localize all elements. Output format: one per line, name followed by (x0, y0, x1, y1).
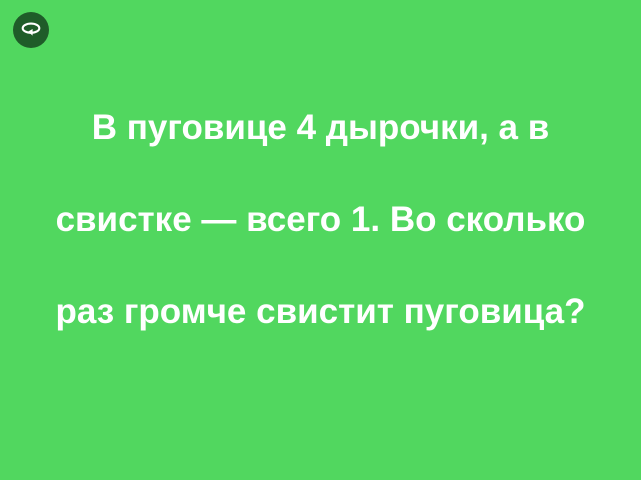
quote-line-1: В пуговице 4 дырочки, а в (31, 105, 611, 151)
quote-line-3: раз громче свистит пуговица? (31, 289, 611, 335)
quote-text-block: В пуговице 4 дырочки, а в свистке — всег… (0, 0, 641, 480)
quote-line-2: свистке — всего 1. Во сколько (31, 197, 611, 243)
quote-card: В пуговице 4 дырочки, а в свистке — всег… (0, 0, 641, 480)
quote-text: В пуговице 4 дырочки, а в свистке — всег… (31, 59, 611, 381)
